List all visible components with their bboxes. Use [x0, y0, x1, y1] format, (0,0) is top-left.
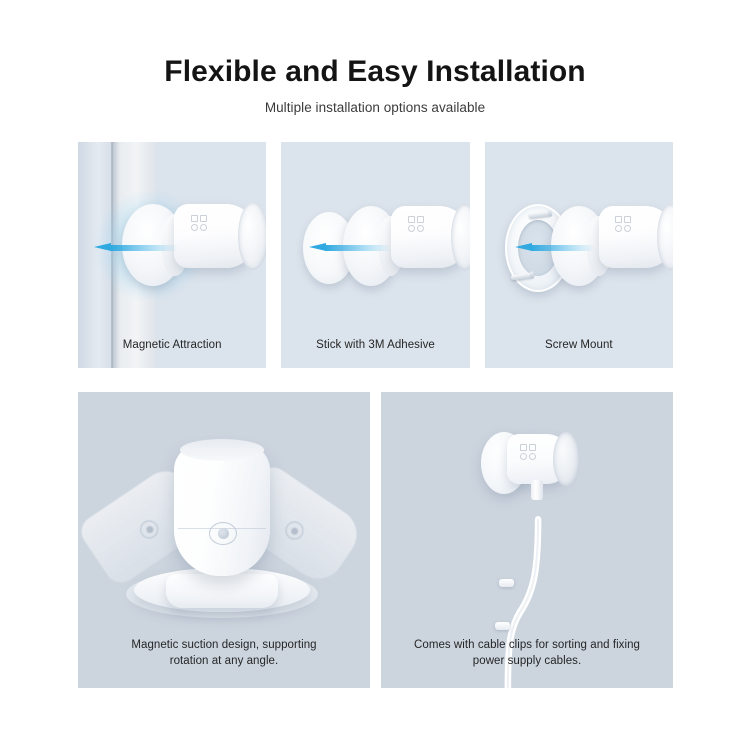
cable-clip-lower: [495, 622, 510, 630]
panel-caption: Magnetic suction design, supporting rota…: [78, 637, 370, 670]
panel-caption: Comes with cable clips for sorting and f…: [381, 637, 673, 670]
camera-top-cap: [180, 439, 265, 461]
header: Flexible and Easy Installation Multiple …: [0, 0, 750, 115]
panel-caption: Stick with 3M Adhesive: [281, 337, 469, 354]
camera-base-plate: [166, 574, 278, 608]
camera-body: [174, 444, 270, 576]
camera-lens: [451, 204, 469, 270]
bottom-panel-row: Magnetic suction design, supporting rota…: [78, 392, 673, 688]
cable-clip-upper: [499, 579, 514, 587]
camera-lens: [238, 202, 266, 270]
certification-marks-icon: [191, 215, 207, 237]
panel-rotation[interactable]: Magnetic suction design, supporting rota…: [78, 392, 370, 688]
panel-adhesive-mount[interactable]: Stick with 3M Adhesive: [281, 142, 469, 368]
panel-screw-mount[interactable]: Screw Mount: [485, 142, 673, 368]
scene-magnetic-attraction: [78, 142, 266, 368]
infographic-page: Flexible and Easy Installation Multiple …: [0, 0, 750, 750]
panel-cable-clips[interactable]: Comes with cable clips for sorting and f…: [381, 392, 673, 688]
arrow-left-icon: [515, 243, 595, 252]
page-title: Flexible and Easy Installation: [0, 55, 750, 88]
panel-magnetic-attraction[interactable]: Magnetic Attraction: [78, 142, 266, 368]
scene-screw-mount: [485, 142, 673, 368]
panel-caption: Magnetic Attraction: [78, 337, 266, 354]
caption-line-2: power supply cables.: [473, 655, 581, 667]
certification-marks-icon: [408, 216, 424, 238]
scene-adhesive-mount: [281, 142, 469, 368]
arrow-left-icon: [309, 243, 391, 252]
top-panel-row: Magnetic Attraction Stick with 3M Adhesi…: [78, 142, 673, 368]
page-subtitle: Multiple installation options available: [0, 100, 750, 115]
caption-line-1: Magnetic suction design, supporting: [131, 639, 316, 651]
panel-caption: Screw Mount: [485, 337, 673, 354]
caption-line-2: rotation at any angle.: [170, 655, 279, 667]
arrow-left-icon: [94, 243, 178, 252]
certification-marks-icon: [615, 216, 631, 238]
caption-line-1: Comes with cable clips for sorting and f…: [414, 639, 640, 651]
